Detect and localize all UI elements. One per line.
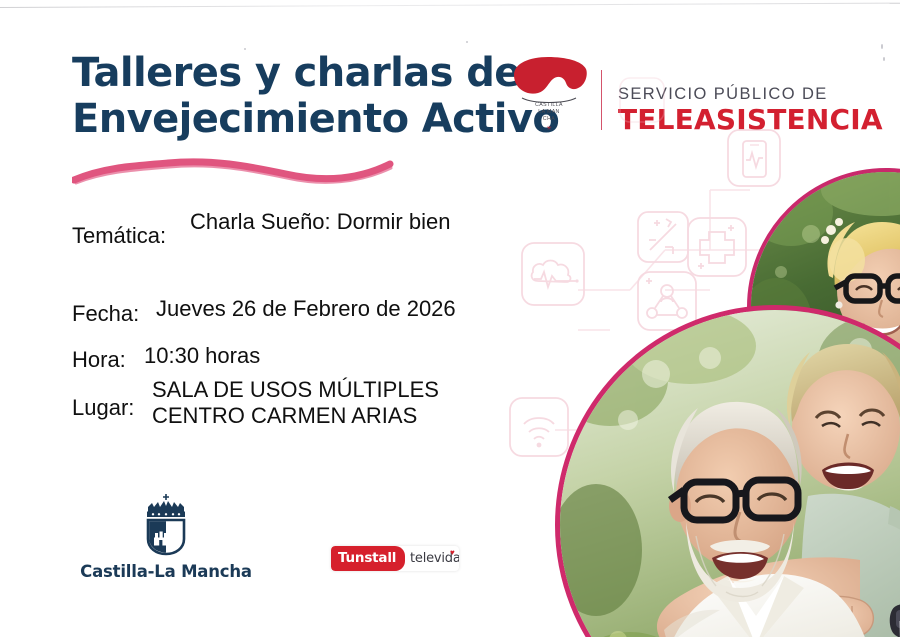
poster-page: Talleres y charlas de Envejecimiento Act… <box>0 0 900 637</box>
field-label-hora: Hora: <box>72 347 126 373</box>
heart-icon: ♥ <box>450 548 455 557</box>
title-line-2: Envejecimiento Activo <box>72 96 502 142</box>
poster-title: Talleres y charlas de Envejecimiento Act… <box>72 50 502 142</box>
field-label-lugar: Lugar: <box>72 395 134 421</box>
field-value-lugar: SALA DE USOS MÚLTIPLES CENTRO CARMEN ARI… <box>152 377 439 429</box>
tunstall-brand-text: Tunstall <box>338 550 396 566</box>
field-label-fecha: Fecha: <box>72 301 139 327</box>
castilla-la-mancha-coat-of-arms-icon <box>129 492 203 558</box>
castilla-la-mancha-footer-logo: Castilla-La Mancha <box>76 492 256 581</box>
title-line-1: Talleres y charlas de <box>72 50 502 96</box>
title-underline-wave <box>72 152 394 194</box>
field-value-fecha: Jueves 26 de Febrero de 2026 <box>156 296 456 322</box>
field-value-hora: 10:30 horas <box>144 343 260 369</box>
field-value-tematica: Charla Sueño: Dormir bien <box>190 209 450 235</box>
poster-imagery <box>460 0 900 637</box>
castilla-la-mancha-footer-caption: Castilla-La Mancha <box>76 562 256 581</box>
field-label-tematica: Temática: <box>72 223 166 249</box>
tunstall-televida-logo: Tunstall televida ♥ <box>331 546 459 571</box>
